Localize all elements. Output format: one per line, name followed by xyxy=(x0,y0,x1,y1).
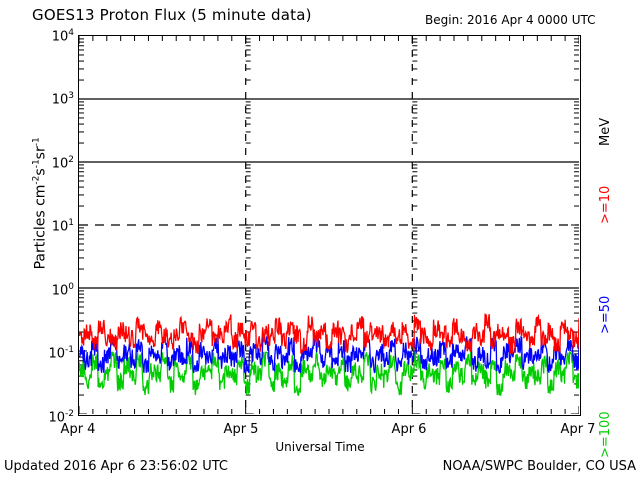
source-credit: NOAA/SWPC Boulder, CO USA xyxy=(443,459,636,474)
legend-item-ge50: >=50 xyxy=(598,294,613,334)
legend-item-ge10: >=10 xyxy=(598,184,613,224)
updated-timestamp: Updated 2016 Apr 6 23:56:02 UTC xyxy=(4,459,228,474)
x-tick-apr5: Apr 5 xyxy=(201,422,281,437)
x-tick-labels: Apr 4 Apr 5 Apr 6 Apr 7 xyxy=(0,0,640,480)
legend: MeV >=10 >=50 >=100 xyxy=(598,100,638,420)
x-tick-apr4: Apr 4 xyxy=(38,422,118,437)
legend-item-ge100: >=100 xyxy=(598,418,613,458)
x-tick-apr6: Apr 6 xyxy=(369,422,449,437)
x-axis-label: Universal Time xyxy=(0,440,640,454)
legend-unit-mev: MeV xyxy=(598,106,613,146)
